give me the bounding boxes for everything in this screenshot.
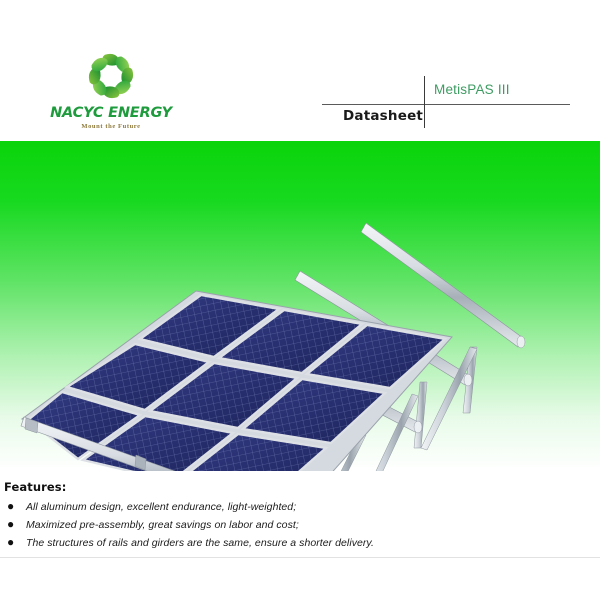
product-model-title: MetisPAS III: [434, 82, 510, 97]
feature-item: ● All aluminum design, excellent enduran…: [0, 500, 600, 513]
eight-point-green-star-logo-icon: [83, 48, 139, 104]
document-type-title: Datasheet: [343, 108, 423, 124]
feature-text: Maximized pre-assembly, great savings on…: [26, 519, 299, 531]
page-header: NACYC ENERGY Mount the Future MetisPAS I…: [0, 0, 600, 140]
feature-text: All aluminum design, excellent endurance…: [26, 501, 296, 513]
bullet-icon: ●: [0, 518, 26, 530]
bullet-icon: ●: [0, 500, 26, 512]
datasheet-page: NACYC ENERGY Mount the Future MetisPAS I…: [0, 0, 600, 600]
feature-item: ● Maximized pre-assembly, great savings …: [0, 518, 600, 531]
feature-text: The structures of rails and girders are …: [26, 537, 374, 549]
feature-item: ● The structures of rails and girders ar…: [0, 536, 600, 549]
product-photo: [0, 141, 600, 471]
solar-mount-illustration: [0, 141, 600, 471]
features-section: Features: ● All aluminum design, excelle…: [0, 480, 600, 554]
header-horizontal-divider: [322, 104, 570, 105]
footer-divider: [0, 557, 600, 558]
bullet-icon: ●: [0, 536, 26, 548]
company-tagline: Mount the Future: [46, 123, 176, 130]
header-vertical-divider: [424, 76, 425, 128]
features-heading: Features:: [4, 480, 600, 494]
company-logo: NACYC ENERGY Mount the Future: [46, 48, 176, 130]
company-name: NACYC ENERGY: [46, 105, 176, 121]
